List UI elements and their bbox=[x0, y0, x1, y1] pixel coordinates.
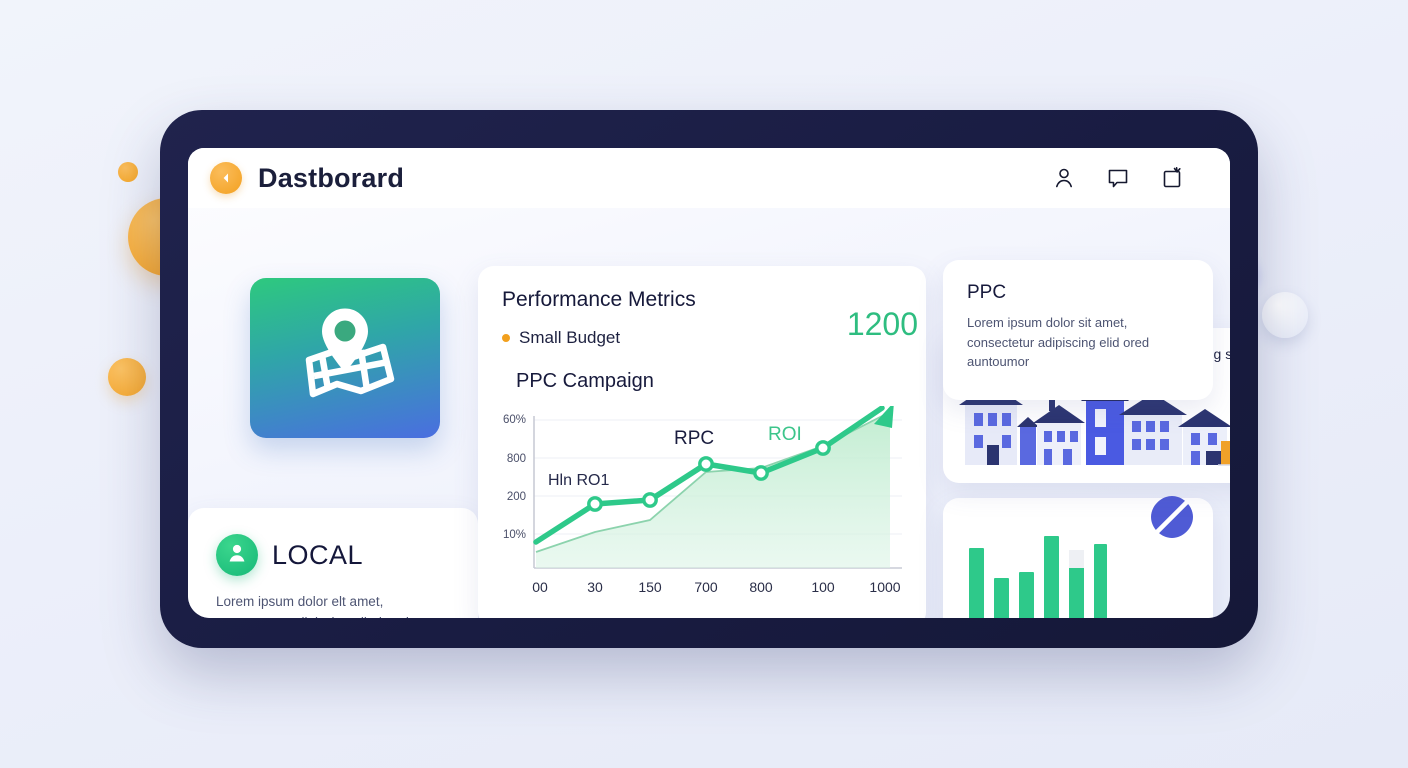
dashboard-content: LOCAL Lorem ipsum dolor elt amet, consec… bbox=[188, 208, 1230, 618]
app-header-actions bbox=[1052, 166, 1184, 190]
svg-text:10%: 10% bbox=[503, 529, 526, 541]
statistics-bar-card[interactable] bbox=[943, 498, 1213, 618]
svg-text:1000: 1000 bbox=[869, 579, 900, 595]
svg-text:800: 800 bbox=[507, 453, 526, 465]
page-title: Dastborard bbox=[258, 163, 404, 194]
svg-text:00: 00 bbox=[532, 579, 548, 595]
chat-icon[interactable] bbox=[1106, 166, 1130, 190]
local-card[interactable]: LOCAL Lorem ipsum dolor elt amet, consec… bbox=[188, 508, 478, 618]
user-avatar-icon bbox=[225, 541, 249, 570]
sphere-badge-icon bbox=[1149, 494, 1195, 540]
ppc-card-title: PPC bbox=[967, 282, 1189, 304]
chart-x-tick-labels: 00 30 150 700 800 100 1000 bbox=[532, 579, 901, 595]
tablet-device-frame: Dastborard bbox=[160, 110, 1258, 648]
svg-text:150: 150 bbox=[638, 579, 662, 595]
chevron-left-icon bbox=[219, 171, 233, 185]
svg-text:200: 200 bbox=[507, 491, 526, 503]
line-chart: 60% 800 200 10% 00 30 150 700 800 bbox=[478, 406, 926, 618]
decorative-circle-orange-small bbox=[118, 162, 138, 182]
app-header-bar: Dastborard bbox=[188, 148, 1230, 208]
local-card-title: LOCAL bbox=[272, 540, 363, 571]
tablet-screen: Dastborard bbox=[188, 148, 1230, 618]
chart-legend: Small Budget bbox=[502, 328, 902, 348]
calendar-icon[interactable] bbox=[1160, 166, 1184, 190]
performance-card-title: Performance Metrics bbox=[502, 288, 902, 312]
ppc-card[interactable]: PPC Lorem ipsum dolor sit amet, consecte… bbox=[943, 260, 1213, 400]
chart-peak-value: 1200 bbox=[847, 306, 918, 343]
avatar bbox=[216, 534, 258, 576]
user-icon[interactable] bbox=[1052, 166, 1076, 190]
local-card-header: LOCAL bbox=[216, 534, 450, 576]
svg-text:100: 100 bbox=[811, 579, 835, 595]
performance-card-subtitle: PPC Campaign bbox=[516, 370, 902, 393]
ppc-card-body: Lorem ipsum dolor sit amet, consectetur … bbox=[967, 313, 1189, 372]
map-pin-icon bbox=[289, 306, 401, 410]
svg-text:30: 30 bbox=[587, 579, 603, 595]
decorative-circle-white bbox=[1262, 292, 1308, 338]
svg-text:700: 700 bbox=[694, 579, 718, 595]
svg-text:800: 800 bbox=[749, 579, 773, 595]
legend-label: Small Budget bbox=[519, 328, 620, 348]
legend-dot-icon bbox=[502, 334, 510, 342]
decorative-circle-orange-medium bbox=[108, 358, 146, 396]
chart-y-tick-labels: 60% 800 200 10% bbox=[503, 414, 526, 541]
performance-metrics-card: Performance Metrics Small Budget PPC Cam… bbox=[478, 266, 926, 618]
green-bar-chart bbox=[967, 528, 1107, 618]
local-card-body: Lorem ipsum dolor elt amet, consectetur … bbox=[216, 592, 444, 618]
back-button[interactable] bbox=[210, 162, 242, 194]
svg-text:60%: 60% bbox=[503, 414, 526, 426]
map-tile-card[interactable] bbox=[250, 278, 440, 438]
